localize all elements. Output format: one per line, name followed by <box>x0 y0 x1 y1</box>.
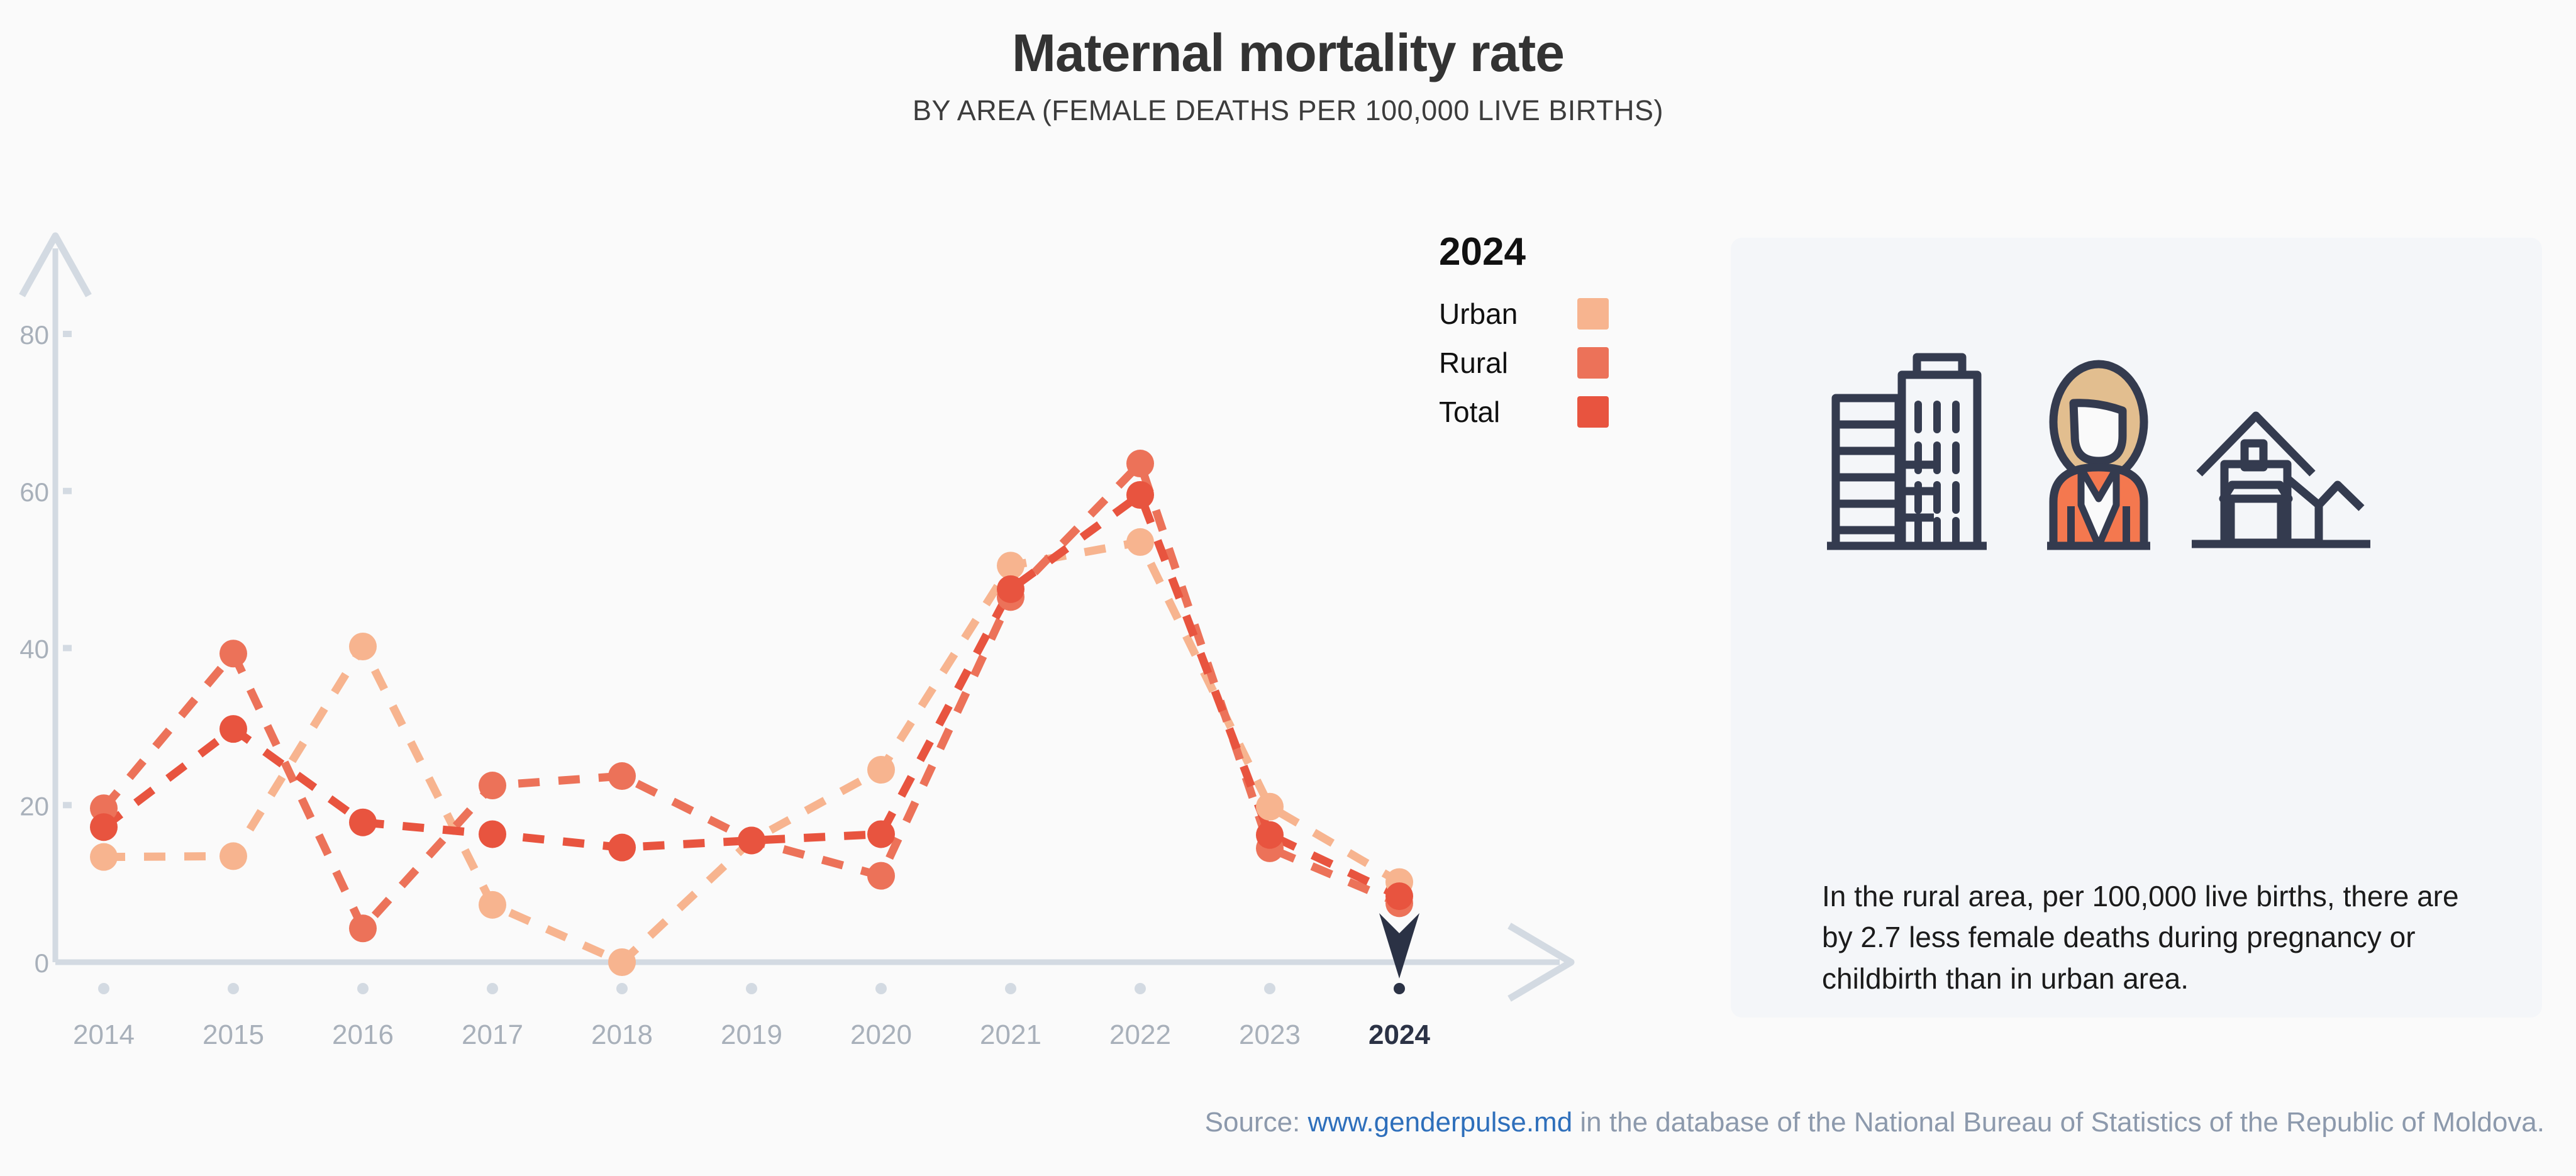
source-footer: Source: www.genderpulse.md in the databa… <box>0 1107 2576 1138</box>
chart-legend: 2024 Urban Rural Total <box>1439 233 1665 436</box>
x-axis-tick-label: 2016 <box>332 1019 394 1050</box>
legend-label-rural: Rural <box>1439 348 1508 377</box>
data-point-total[interactable] <box>1126 481 1154 509</box>
woman-figure-icon <box>2047 364 2150 546</box>
y-axis-tick-label: 20 <box>19 791 49 821</box>
data-point-rural[interactable] <box>1126 450 1154 477</box>
x-axis-tick-label: 2014 <box>73 1019 135 1050</box>
legend-swatch-urban <box>1577 298 1609 330</box>
x-axis-tick-dot <box>746 983 757 994</box>
legend-year: 2024 <box>1439 233 1665 272</box>
data-point-urban[interactable] <box>608 948 636 976</box>
x-axis-tick-dot <box>1264 983 1275 994</box>
data-point-total[interactable] <box>479 820 506 848</box>
urban-rural-illustration <box>1822 348 2391 562</box>
x-axis-tick-dot <box>875 983 887 994</box>
x-axis-tick-dot <box>1135 983 1146 994</box>
x-axis-tick-label: 2020 <box>850 1019 912 1050</box>
data-point-total[interactable] <box>90 813 118 841</box>
data-point-urban[interactable] <box>1256 793 1284 821</box>
data-point-rural[interactable] <box>349 914 377 942</box>
line-chart: 0204060802014201520162017201820192020202… <box>0 0 1698 1176</box>
data-point-urban[interactable] <box>90 843 118 871</box>
x-axis-tick-dot <box>357 983 369 994</box>
data-point-total[interactable] <box>349 809 377 836</box>
x-axis-tick-dot <box>98 983 109 994</box>
data-point-rural[interactable] <box>867 862 895 890</box>
data-point-urban[interactable] <box>867 756 895 784</box>
data-point-total[interactable] <box>1385 882 1413 910</box>
x-axis-tick-label: 2019 <box>721 1019 782 1050</box>
x-axis-tick-label: 2021 <box>980 1019 1041 1050</box>
legend-swatch-total <box>1577 396 1609 428</box>
data-point-rural[interactable] <box>479 772 506 799</box>
x-axis-tick-label: 2015 <box>203 1019 264 1050</box>
source-prefix: Source: <box>1205 1107 1308 1138</box>
y-axis-tick-label: 60 <box>19 477 49 507</box>
x-axis-tick-dot <box>228 983 239 994</box>
y-axis-tick <box>63 488 72 494</box>
x-axis-tick-label: 2017 <box>462 1019 523 1050</box>
data-point-total[interactable] <box>997 575 1024 603</box>
data-point-urban[interactable] <box>1126 528 1154 556</box>
data-point-total[interactable] <box>867 820 895 848</box>
x-axis-tick-label: 2022 <box>1109 1019 1171 1050</box>
data-point-rural[interactable] <box>219 640 247 667</box>
source-link[interactable]: www.genderpulse.md <box>1308 1107 1573 1138</box>
highlight-chevron-icon <box>1379 913 1419 979</box>
y-axis-tick <box>63 802 72 808</box>
data-point-total[interactable] <box>608 834 636 862</box>
city-buildings-icon <box>1827 357 1987 546</box>
legend-item-total[interactable]: Total <box>1439 387 1609 436</box>
info-card: In the rural area, per 100,000 live birt… <box>1731 238 2542 1018</box>
source-suffix: in the database of the National Bureau o… <box>1572 1107 2545 1138</box>
legend-item-urban[interactable]: Urban <box>1439 289 1609 338</box>
x-axis-tick-label: 2024 <box>1368 1019 1430 1050</box>
y-axis-tick <box>63 645 72 652</box>
house-icon <box>2192 416 2370 544</box>
data-point-rural[interactable] <box>608 762 636 790</box>
x-axis-tick-label: 2023 <box>1239 1019 1301 1050</box>
legend-label-urban: Urban <box>1439 299 1518 328</box>
y-axis-tick <box>63 331 72 337</box>
legend-swatch-rural <box>1577 347 1609 379</box>
y-axis-tick-label: 40 <box>19 635 49 664</box>
data-point-total[interactable] <box>738 826 765 854</box>
series-line-rural <box>104 463 1399 928</box>
info-card-text: In the rural area, per 100,000 live birt… <box>1822 876 2463 999</box>
data-point-urban[interactable] <box>479 891 506 919</box>
legend-label-total: Total <box>1439 397 1500 426</box>
x-axis-tick-dot <box>616 983 628 994</box>
y-axis-tick-label: 0 <box>35 948 49 978</box>
data-point-total[interactable] <box>1256 821 1284 849</box>
x-axis-tick-dot <box>1005 983 1016 994</box>
data-point-total[interactable] <box>219 715 247 743</box>
x-axis-tick-label: 2018 <box>591 1019 653 1050</box>
data-point-urban[interactable] <box>997 552 1024 579</box>
y-axis-tick-label: 80 <box>19 320 49 350</box>
series-line-urban <box>104 542 1399 962</box>
x-axis-tick-dot <box>487 983 498 994</box>
data-point-urban[interactable] <box>219 842 247 870</box>
x-axis-tick-dot <box>1394 983 1405 994</box>
chart-area: 0204060802014201520162017201820192020202… <box>0 0 1698 1176</box>
data-point-urban[interactable] <box>349 633 377 660</box>
legend-item-rural[interactable]: Rural <box>1439 338 1609 387</box>
